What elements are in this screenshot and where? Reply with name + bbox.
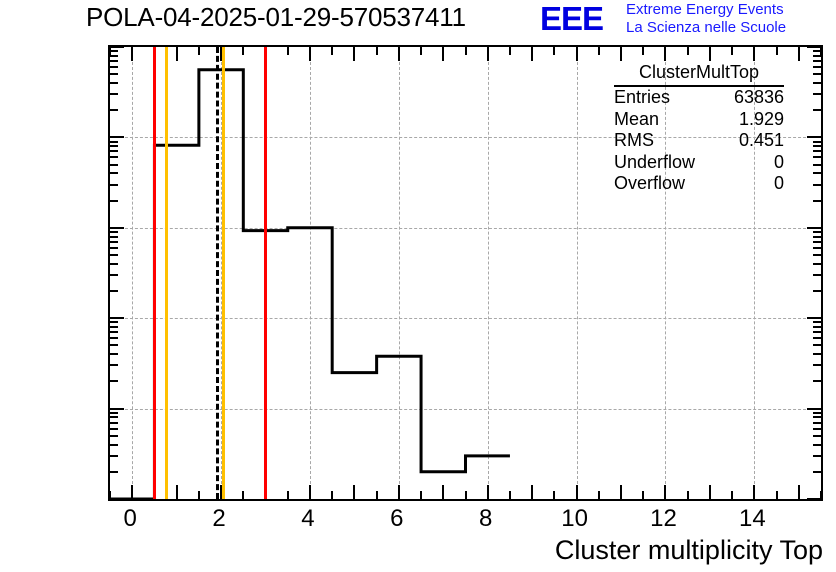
stats-row-key: Underflow [614, 152, 695, 174]
histogram-outline [110, 70, 510, 499]
x-axis-tick-label: 8 [456, 505, 516, 533]
mean-line [216, 47, 219, 499]
x-axis-tick-label: 14 [722, 505, 782, 533]
eee-logo: EEE EEE Extreme Energy Events La Scienza… [540, 1, 832, 39]
x-axis-tick-label: 2 [189, 505, 249, 533]
stats-row: Entries63836 [614, 87, 784, 109]
x-axis-tick-label: 12 [633, 505, 693, 533]
plot-frame: ClusterMultTop Entries63836Mean1.929RMS0… [108, 45, 823, 501]
page-title: POLA-04-2025-01-29-570537411 [86, 2, 466, 33]
stats-row-value: 0.451 [739, 130, 784, 152]
x-axis-tick-label: 0 [100, 505, 160, 533]
stats-row-value: 0 [774, 152, 784, 174]
x-axis-tick-label: 10 [545, 505, 605, 533]
stats-row-key: Entries [614, 87, 670, 109]
stats-row-value: 1.929 [739, 109, 784, 131]
stats-row: Underflow0 [614, 152, 784, 174]
plot-canvas: POLA-04-2025-01-29-570537411 EEE EEE Ext… [0, 0, 836, 572]
stats-row-value: 0 [774, 173, 784, 195]
x-axis-tick-label: 4 [278, 505, 338, 533]
stats-row: Overflow0 [614, 173, 784, 195]
eee-logo-line2: La Scienza nelle Scuole [626, 19, 786, 36]
stats-row-key: RMS [614, 130, 654, 152]
stats-row-key: Mean [614, 109, 659, 131]
x-axis-tick-label: 6 [367, 505, 427, 533]
stats-row-key: Overflow [614, 173, 685, 195]
stats-row: RMS0.451 [614, 130, 784, 152]
eee-logo-mark: EEE [540, 2, 603, 35]
eee-logo-line1: Extreme Energy Events [626, 1, 784, 18]
lower-orange-cut [165, 47, 168, 499]
upper-orange-cut [222, 47, 225, 499]
stats-box: ClusterMultTop Entries63836Mean1.929RMS0… [614, 62, 784, 195]
stats-row-value: 63836 [734, 87, 784, 109]
stats-row: Mean1.929 [614, 109, 784, 131]
lower-red-cut [153, 47, 156, 499]
stats-title: ClusterMultTop [614, 62, 784, 87]
upper-red-cut [264, 47, 267, 499]
x-axis-title: Cluster multiplicity Top [555, 535, 823, 566]
stats-rows: Entries63836Mean1.929RMS0.451Underflow0O… [614, 87, 784, 195]
